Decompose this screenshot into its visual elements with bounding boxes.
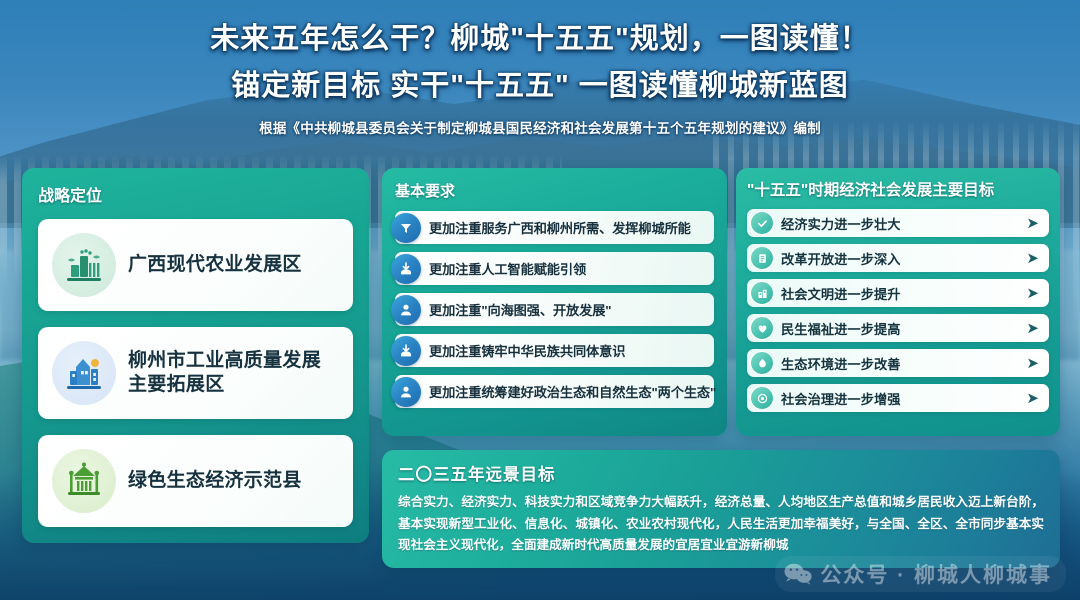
header-subtitle: 根据《中共柳城县委员会关于制定柳城县国民经济和社会发展第十五个五年规划的建议》编… (0, 117, 1080, 137)
farm-buildings-icon (52, 233, 116, 297)
requirement-text: 更加注重服务广西和柳州所需、发挥柳城所能 (429, 218, 691, 237)
main-title-line-2: 锚定新目标 实干"十五五" 一图读懂柳城新蓝图 (0, 64, 1080, 109)
goal-row[interactable]: 民生福祉进一步提高 ➤ (747, 314, 1049, 342)
requirement-row[interactable]: 更加注重统筹建好政治生态和自然生态"两个生态" (395, 375, 714, 408)
requirements-panel: 基本要求 更加注重服务广西和柳州所需、发挥柳城所能 更加注重人工智能赋能引领 (382, 168, 727, 436)
industry-buildings-icon (52, 341, 116, 405)
goal-text: 生态环境进一步改善 (781, 354, 1026, 373)
chevron-right-icon[interactable]: ➤ (1026, 391, 1039, 406)
poster-header: 未来五年怎么干？柳城"十五五"规划，一图读懂！ 锚定新目标 实干"十五五" 一图… (0, 0, 1080, 137)
strategy-card-label: 绿色生态经济示范县 (128, 469, 302, 493)
goal-row[interactable]: 生态环境进一步改善 ➤ (747, 349, 1049, 377)
strategy-card-label: 柳州市工业高质量发展主要拓展区 (128, 349, 339, 398)
goals-panel: "十五五"时期经济社会发展主要目标 经济实力进一步壮大 ➤ 改革开放进一步深入 … (736, 168, 1060, 436)
vision-2035-panel: 二〇三五年远景目标 综合实力、经济实力、科技实力和区域竞争力大幅跃升，经济总量、… (382, 450, 1060, 568)
strategy-panel: 战略定位 广西现代农业发展区 (22, 168, 369, 543)
culture-icon (750, 281, 774, 305)
requirement-text: 更加注重"向海图强、开放发展" (429, 300, 611, 319)
vision-panel-title: 二〇三五年远景目标 (398, 461, 1044, 485)
vision-panel-body: 综合实力、经济实力、科技实力和区域竞争力大幅跃升，经济总量、人均地区生产总值和城… (398, 492, 1044, 557)
funnel-icon (391, 213, 421, 243)
strategy-card[interactable]: 柳州市工业高质量发展主要拓展区 (38, 327, 353, 419)
download-person-icon (391, 336, 421, 366)
strategy-panel-title: 战略定位 (38, 182, 353, 206)
infographic-poster: 未来五年怎么干？柳城"十五五"规划，一图读懂！ 锚定新目标 实干"十五五" 一图… (0, 0, 1080, 600)
pavilion-icon (52, 449, 116, 513)
chevron-right-icon[interactable]: ➤ (1026, 356, 1039, 371)
gear-circle-icon (750, 386, 774, 410)
goal-text: 经济实力进一步壮大 (781, 214, 1026, 233)
chevron-right-icon[interactable]: ➤ (1026, 321, 1039, 336)
document-icon (750, 246, 774, 270)
wechat-icon (783, 562, 813, 587)
goal-text: 民生福祉进一步提高 (781, 319, 1026, 338)
requirement-text: 更加注重人工智能赋能引领 (429, 259, 586, 278)
chevron-right-icon[interactable]: ➤ (1026, 251, 1039, 266)
chevron-right-icon[interactable]: ➤ (1026, 216, 1039, 231)
person-icon (391, 295, 421, 325)
watermark-text: 公众号 · 柳城人柳城事 (820, 559, 1052, 589)
goal-row[interactable]: 社会治理进一步增强 ➤ (747, 384, 1049, 412)
goal-text: 社会文明进一步提升 (781, 284, 1026, 303)
leaf-drop-icon (750, 351, 774, 375)
download-person-icon (391, 254, 421, 284)
watermark: 公众号 · 柳城人柳城事 (775, 556, 1066, 592)
strategy-card-label: 广西现代农业发展区 (128, 253, 302, 277)
requirement-row[interactable]: 更加注重"向海图强、开放发展" (395, 293, 714, 326)
person-icon (391, 377, 421, 407)
requirement-row[interactable]: 更加注重服务广西和柳州所需、发挥柳城所能 (395, 211, 714, 244)
strategy-card[interactable]: 广西现代农业发展区 (38, 219, 353, 311)
requirement-row[interactable]: 更加注重人工智能赋能引领 (395, 252, 714, 285)
goals-panel-title: "十五五"时期经济社会发展主要目标 (747, 178, 1049, 200)
goal-row[interactable]: 社会文明进一步提升 ➤ (747, 279, 1049, 307)
goal-row[interactable]: 改革开放进一步深入 ➤ (747, 244, 1049, 272)
goal-text: 改革开放进一步深入 (781, 249, 1026, 268)
main-title-line-1: 未来五年怎么干？柳城"十五五"规划，一图读懂！ (0, 18, 1080, 62)
requirement-text: 更加注重铸牢中华民族共同体意识 (429, 341, 625, 360)
check-circle-icon (750, 211, 774, 235)
chevron-right-icon[interactable]: ➤ (1026, 286, 1039, 301)
requirement-text: 更加注重统筹建好政治生态和自然生态"两个生态" (429, 382, 716, 401)
heart-hand-icon (750, 316, 774, 340)
requirement-row[interactable]: 更加注重铸牢中华民族共同体意识 (395, 334, 714, 367)
goal-row[interactable]: 经济实力进一步壮大 ➤ (747, 209, 1049, 237)
requirements-panel-title: 基本要求 (395, 180, 714, 201)
strategy-card[interactable]: 绿色生态经济示范县 (38, 435, 353, 527)
goal-text: 社会治理进一步增强 (781, 389, 1026, 408)
